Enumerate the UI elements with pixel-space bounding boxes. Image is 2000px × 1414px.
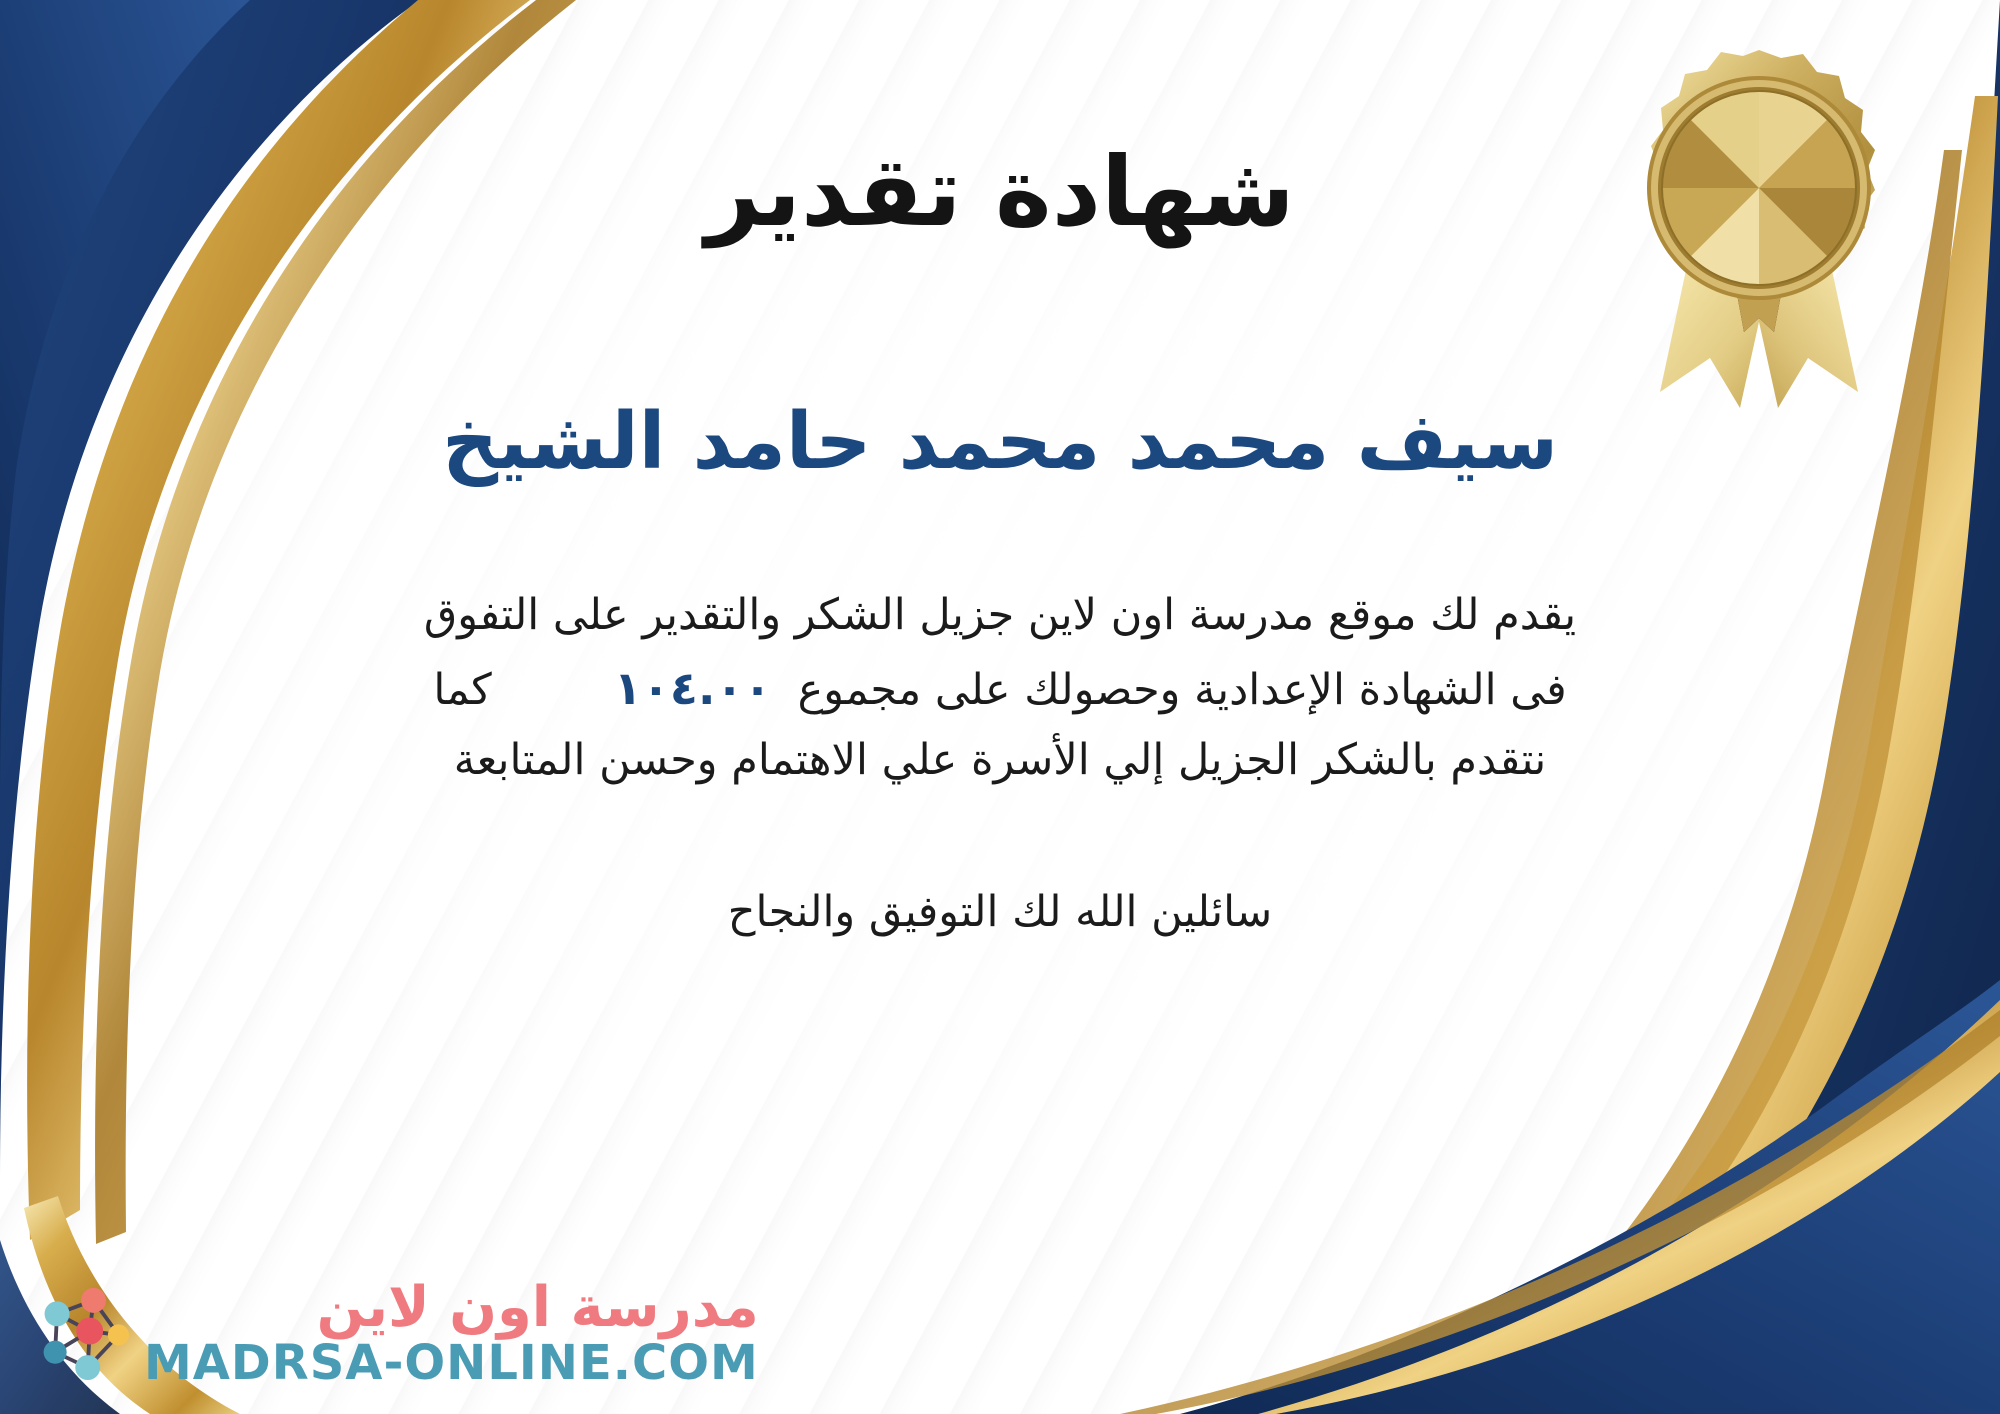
closing-line: سائلين الله لك التوفيق والنجاح xyxy=(728,887,1272,937)
gold-award-rosette-icon xyxy=(1614,40,1904,410)
body-line-2: فى الشهادة الإعدادية وحصولك على مجموع١٠٤… xyxy=(170,651,1830,726)
page-title: شهادة تقدير xyxy=(705,140,1295,246)
body-line-3: نتقدم بالشكر الجزيل إلي الأسرة علي الاهت… xyxy=(170,726,1830,796)
score-value: ١٠٤.٠٠ xyxy=(588,651,798,726)
certificate-body: يقدم لك موقع مدرسة اون لاين جزيل الشكر و… xyxy=(170,581,1830,795)
body-line-2-suffix: كما xyxy=(433,665,491,715)
brand-text-group: مدرسة اون لاين MADRSA-ONLINE.COM xyxy=(144,1279,759,1388)
body-line-1: يقدم لك موقع مدرسة اون لاين جزيل الشكر و… xyxy=(170,581,1830,651)
recipient-name: سيف محمد محمد حامد الشيخ xyxy=(442,396,1558,490)
body-line-2-prefix: فى الشهادة الإعدادية وحصولك على مجموع xyxy=(798,665,1567,715)
brand-arabic-name: مدرسة اون لاين xyxy=(317,1279,759,1338)
network-nodes-icon xyxy=(34,1281,130,1385)
certificate-canvas: شهادة تقدير سيف محمد محمد حامد الشيخ يقد… xyxy=(0,0,2000,1414)
brand-website: MADRSA-ONLINE.COM xyxy=(144,1338,759,1388)
brand-logo[interactable]: مدرسة اون لاين MADRSA-ONLINE.COM xyxy=(34,1279,759,1388)
